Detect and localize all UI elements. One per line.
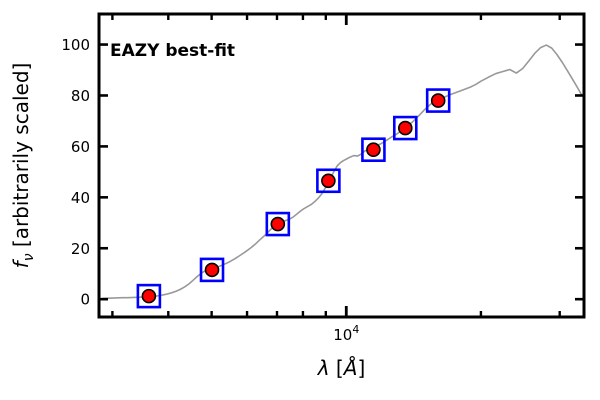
photometry-data-point [399, 122, 412, 135]
y-tick-label: 20 [71, 240, 90, 258]
y-axis-ticks: 020406080100 [61, 36, 584, 309]
photometry-data-point [206, 263, 219, 276]
y-tick-label: 40 [71, 189, 90, 207]
photometry-data-point [271, 218, 284, 231]
best-fit-spectrum-line [102, 45, 581, 298]
y-tick-label: 80 [71, 87, 90, 105]
plot-canvas: 020406080100104λ [Å]fν [arbitrarily scal… [0, 0, 600, 400]
photometry-data-point [142, 290, 155, 303]
y-tick-label: 0 [80, 291, 90, 309]
spectral-energy-distribution-figure: 020406080100104λ [Å]fν [arbitrarily scal… [0, 0, 600, 400]
x-axis-title: λ [Å] [317, 356, 366, 380]
photometry-data-point [367, 143, 380, 156]
template-spectrum-group [102, 45, 581, 298]
photometry-data-point [322, 174, 335, 187]
photometry-data-point [432, 94, 445, 107]
x-axis-major-ticks: 104 [333, 14, 359, 344]
eazy-best-fit-annotation: EAZY best-fit [110, 41, 235, 61]
photometry-points-group [138, 90, 449, 308]
y-tick-label: 100 [61, 36, 90, 54]
y-axis-title: fν [arbitrarily scaled] [9, 63, 37, 269]
y-tick-label: 60 [71, 138, 90, 156]
x-tick-label: 104 [333, 323, 359, 344]
